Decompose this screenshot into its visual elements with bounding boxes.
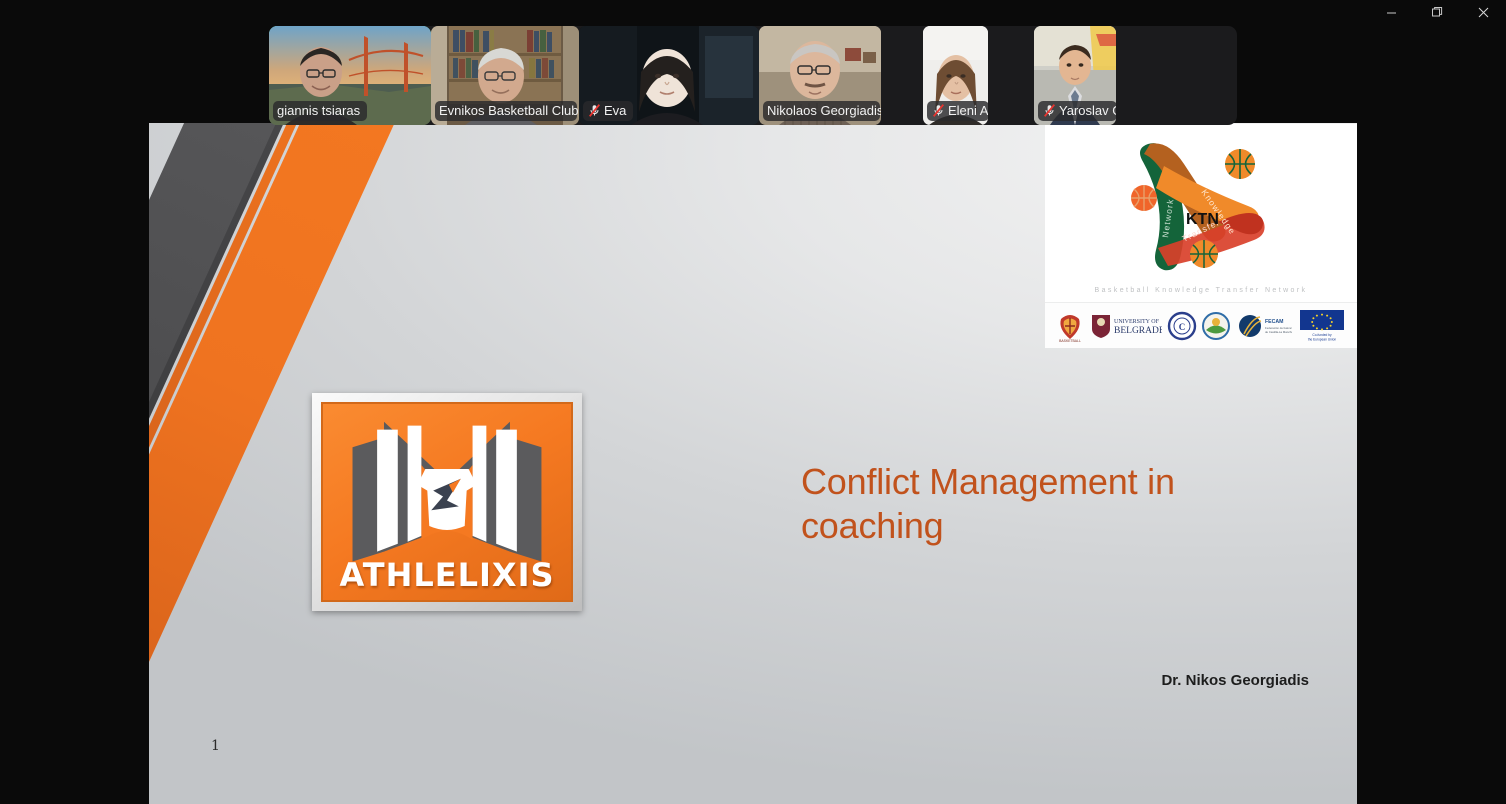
ktn-acronym: KTN	[1186, 211, 1219, 228]
participant-tile[interactable]: Nikolaos Georgiadis	[759, 26, 881, 125]
participant-name-chip: Evnikos Basketball Club	[435, 101, 577, 121]
partner-logo-strip: BASKETBALL UNIVERSITY OF BELGRADE C	[1045, 302, 1357, 348]
svg-text:de Castilla-La Mancha: de Castilla-La Mancha	[1265, 330, 1292, 334]
svg-text:FECAM: FECAM	[1265, 319, 1283, 325]
microphone-muted-icon	[1044, 104, 1055, 117]
participant-name: Evnikos Basketball Club	[439, 103, 578, 118]
participant-tile[interactable]: Eva	[579, 26, 759, 125]
participant-name: giannis tsiaras	[277, 103, 360, 118]
participant-name: Yaroslav GALAN	[1059, 103, 1116, 118]
shared-slide[interactable]: ATHLELIXIS	[149, 123, 1357, 804]
ktn-caption: Basketball Knowledge Transfer Network	[1045, 287, 1357, 294]
microphone-muted-icon	[933, 104, 944, 117]
participant-name-chip: giannis tsiaras	[273, 101, 367, 121]
svg-text:UNIVERSITY OF: UNIVERSITY OF	[1114, 319, 1160, 325]
participant-name: Eleni Anoyrkati	[948, 103, 988, 118]
svg-text:BELGRADE: BELGRADE	[1114, 326, 1162, 336]
restore-icon[interactable]	[1414, 0, 1460, 24]
participant-name-chip: Eleni Anoyrkati	[927, 101, 988, 121]
basketball-icon	[1131, 185, 1157, 211]
partner-logo-european-union: Co-funded by the European Union	[1297, 308, 1347, 344]
participant-name-chip: Yaroslav GALAN	[1038, 101, 1116, 121]
ktn-project-panel: Knowledge Transfer Network KTN Basketbal…	[1045, 124, 1357, 348]
athlelixis-logo: ATHLELIXIS	[312, 393, 582, 611]
slide-author: Dr. Nikos Georgiadis	[1049, 672, 1309, 689]
slide-number: 1	[211, 738, 220, 754]
participant-name: Nikolaos Georgiadis	[767, 103, 881, 118]
svg-text:C: C	[1178, 322, 1185, 332]
participant-tile[interactable]: Eleni Anoyrkati	[923, 26, 988, 125]
partner-logo-fecam: FECAM Federación de baloncesto de Castil…	[1236, 308, 1292, 344]
participant-tile[interactable]: Evnikos Basketball Club	[431, 26, 579, 125]
participant-name: Eva	[604, 103, 626, 118]
basketball-icon	[1225, 149, 1255, 179]
athlelixis-wordmark: ATHLELIXIS	[323, 556, 571, 594]
participant-name-chip: Nikolaos Georgiadis	[763, 101, 880, 121]
minimize-icon[interactable]	[1368, 0, 1414, 24]
participant-filmstrip: giannis tsiaras	[269, 26, 1237, 125]
window-controls	[1368, 0, 1506, 24]
slide-title: Conflict Management in coaching	[801, 460, 1301, 548]
microphone-muted-icon	[589, 104, 600, 117]
svg-text:the European Union: the European Union	[1307, 337, 1336, 341]
partner-logo-college-institute: C	[1167, 308, 1197, 344]
participant-tile[interactable]: Yaroslav GALAN	[1034, 26, 1116, 125]
svg-text:BASKETBALL: BASKETBALL	[1059, 339, 1081, 343]
close-icon[interactable]	[1460, 0, 1506, 24]
partner-logo-evnikos-basketball: BASKETBALL	[1055, 308, 1085, 344]
participant-name-chip: Eva	[583, 101, 633, 121]
partner-logo-sports-academy	[1201, 308, 1231, 344]
svg-text:Co-funded by: Co-funded by	[1312, 333, 1332, 337]
participant-tile[interactable]: giannis tsiaras	[269, 26, 431, 125]
ktn-logo-icon: Knowledge Transfer Network KTN	[1098, 130, 1304, 280]
basketball-icon	[1190, 240, 1218, 268]
partner-logo-university-of-belgrade: UNIVERSITY OF BELGRADE	[1090, 308, 1162, 344]
ktn-logo: Knowledge Transfer Network KTN Basketbal…	[1045, 124, 1357, 302]
